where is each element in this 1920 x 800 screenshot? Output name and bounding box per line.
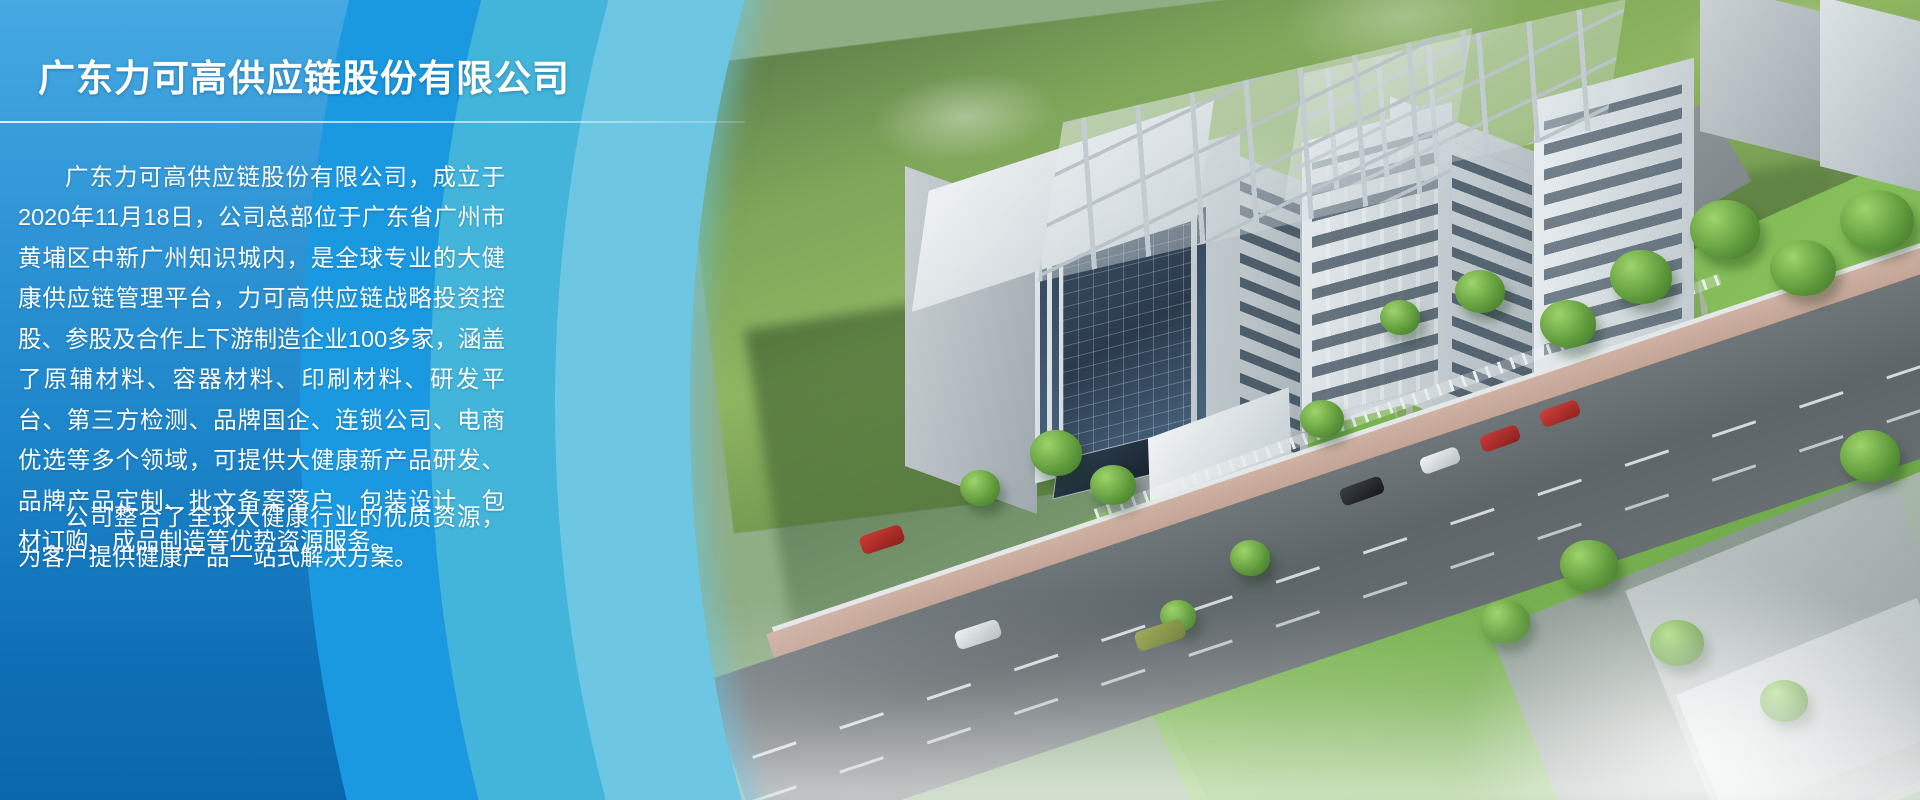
text-column: 广东力可高供应链股份有限公司 广东力可高供应链股份有限公司，成立于2020年11… xyxy=(0,0,540,800)
tree xyxy=(1540,300,1596,348)
tree xyxy=(1380,300,1420,335)
tree xyxy=(1090,465,1136,505)
banner-slide: 广东力可高供应链股份有限公司 广东力可高供应链股份有限公司，成立于2020年11… xyxy=(0,0,1920,800)
tree xyxy=(960,470,1000,506)
company-photo xyxy=(690,0,1920,800)
tree xyxy=(1840,190,1914,252)
title-divider xyxy=(0,121,745,123)
company-photo-image xyxy=(690,0,1920,800)
atmospheric-mist-right xyxy=(1450,560,1920,800)
tree xyxy=(1455,270,1505,313)
tree xyxy=(1690,200,1760,260)
tree xyxy=(1840,430,1900,482)
tree xyxy=(1610,250,1672,304)
far-building-2 xyxy=(1820,0,1920,194)
company-intro-paragraph-2: 公司整合了全球大健康行业的优质资源，为客户提供健康产品一站式解决方案。 xyxy=(18,497,505,578)
tree xyxy=(1300,400,1344,438)
page-title: 广东力可高供应链股份有限公司 xyxy=(38,48,570,102)
tree xyxy=(1030,430,1082,476)
tree xyxy=(1230,540,1270,576)
tree xyxy=(1770,240,1836,296)
